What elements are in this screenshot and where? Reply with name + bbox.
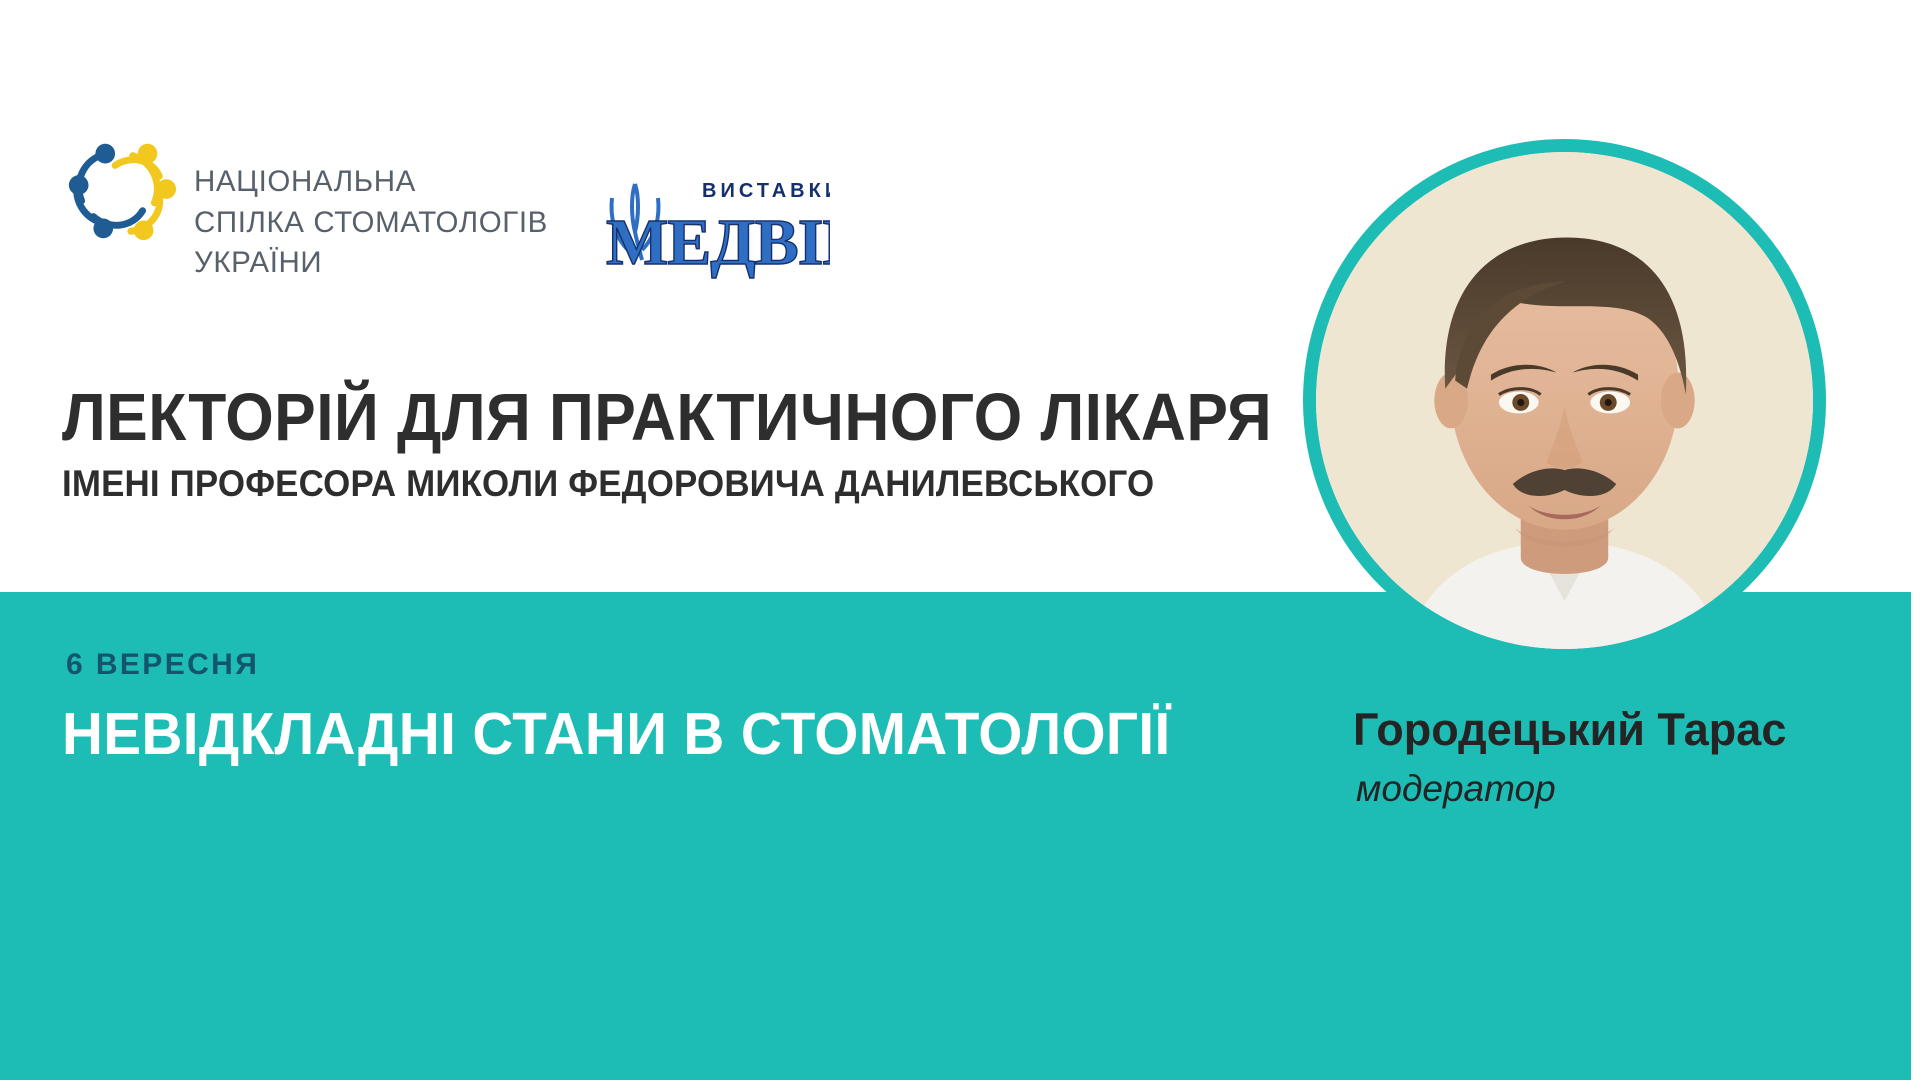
teal-background-band <box>0 592 1911 1080</box>
speaker-role: модератор <box>1356 768 1556 810</box>
lectorium-subtitle: ІМЕНІ ПРОФЕСОРА МИКОЛИ ФЕДОРОВИЧА ДАНИЛЕ… <box>62 465 1272 503</box>
nsu-logo-line-1: НАЦІОНАЛЬНА <box>194 162 548 203</box>
lectorium-heading-block: ЛЕКТОРІЙ ДЛЯ ПРАКТИЧНОГО ЛІКАРЯ ІМЕНІ ПР… <box>62 384 1363 503</box>
medvin-logo: ВИСТАВКИ МЕДВІN ВИСТАВКИ МЕДВІN <box>590 170 830 280</box>
event-date: 6 ВЕРЕСНЯ <box>66 648 259 682</box>
svg-text:ВИСТАВКИ: ВИСТАВКИ <box>702 180 830 202</box>
people-circle-icon <box>60 132 178 252</box>
lectorium-title: ЛЕКТОРІЙ ДЛЯ ПРАКТИЧНОГО ЛІКАРЯ <box>62 384 1272 451</box>
nsu-logo-wordmark: НАЦІОНАЛЬНА СПІЛКА СТОМАТОЛОГІВ УКРАЇНИ <box>194 162 548 284</box>
nsu-logo: НАЦІОНАЛЬНА СПІЛКА СТОМАТОЛОГІВ УКРАЇНИ <box>60 132 548 284</box>
event-title: НЕВІДКЛАДНІ СТАНИ В СТОМАТОЛОГІЇ <box>62 700 1171 768</box>
speaker-name: Городецький Тарас <box>1353 704 1786 756</box>
svg-text:МЕДВІN: МЕДВІN <box>606 206 830 279</box>
speaker-portrait <box>1303 139 1826 662</box>
nsu-logo-line-2: СПІЛКА СТОМАТОЛОГІВ <box>194 203 548 244</box>
event-announcement-poster: НАЦІОНАЛЬНА СПІЛКА СТОМАТОЛОГІВ УКРАЇНИ … <box>0 0 1920 1080</box>
nsu-logo-line-3: УКРАЇНИ <box>194 243 548 284</box>
